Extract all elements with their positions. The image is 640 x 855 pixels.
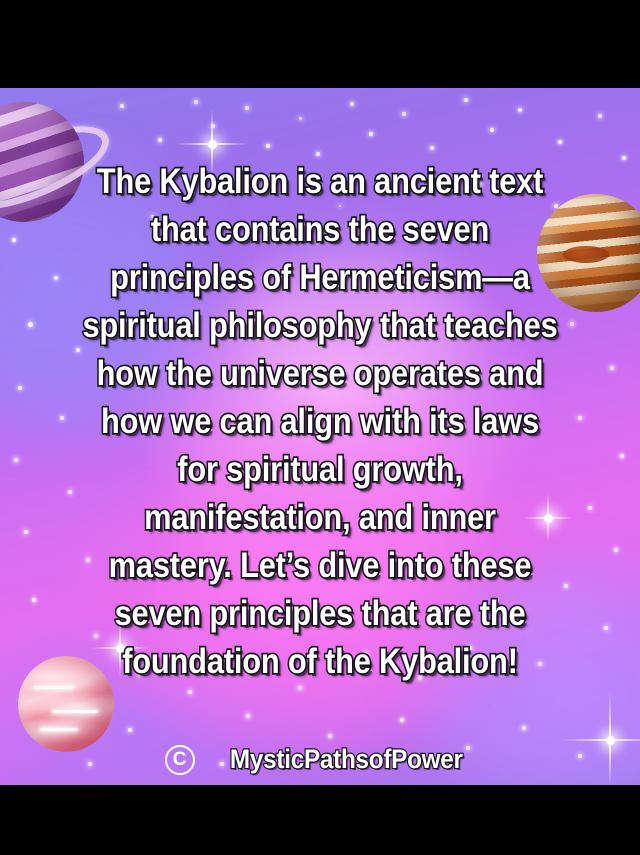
star xyxy=(490,128,494,132)
quote-line: that contains the seven xyxy=(49,206,591,254)
star xyxy=(328,734,332,738)
quote-line: The Kybalion is an ancient text xyxy=(49,158,591,206)
star xyxy=(188,690,192,694)
pink-planet-glint xyxy=(40,728,78,731)
star xyxy=(211,124,215,128)
letterbox-bar-bottom xyxy=(0,785,640,855)
star xyxy=(40,698,43,701)
quote-line: manifestation, and inner xyxy=(49,494,591,542)
quote-line: foundation of the Kybalion! xyxy=(49,638,591,686)
star xyxy=(522,726,526,730)
star xyxy=(298,686,301,689)
star xyxy=(369,132,374,137)
star xyxy=(400,718,405,723)
star xyxy=(16,108,20,112)
star xyxy=(299,117,302,120)
star xyxy=(316,152,320,156)
lens-flare-core xyxy=(208,140,217,149)
star xyxy=(128,728,132,732)
star xyxy=(464,98,468,102)
star xyxy=(430,146,434,150)
quote-line: principles of Hermeticism—a xyxy=(49,254,591,302)
quote-line: how we can align with its laws xyxy=(49,398,591,446)
star xyxy=(158,138,162,142)
star xyxy=(518,108,521,111)
star xyxy=(245,106,248,109)
pink-planet-glint xyxy=(34,686,74,689)
pink-planet-glint xyxy=(52,710,98,713)
watermark-channel-name: MysticPathsofPower xyxy=(230,744,463,775)
star xyxy=(402,112,405,115)
star xyxy=(266,144,271,149)
letterbox-bar-top xyxy=(0,0,640,88)
quote-text-block: The Kybalion is an ancient textthat cont… xyxy=(0,158,640,686)
star xyxy=(558,140,562,144)
video-frame: The Kybalion is an ancient textthat cont… xyxy=(0,0,640,855)
quote-line: mastery. Let’s dive into these xyxy=(49,542,591,590)
copyright-icon: C xyxy=(165,745,195,775)
star xyxy=(246,714,250,718)
quote-line: seven principles that are the xyxy=(49,590,591,638)
star xyxy=(598,114,602,118)
star xyxy=(194,100,197,103)
quote-line: spiritual philosophy that teaches xyxy=(49,302,591,350)
star xyxy=(350,102,354,106)
watermark: C MysticPathsofPower xyxy=(0,744,640,775)
quote-line: for spiritual growth, xyxy=(49,446,591,494)
star xyxy=(120,104,124,108)
quote-line: how the universe operates and xyxy=(49,350,591,398)
